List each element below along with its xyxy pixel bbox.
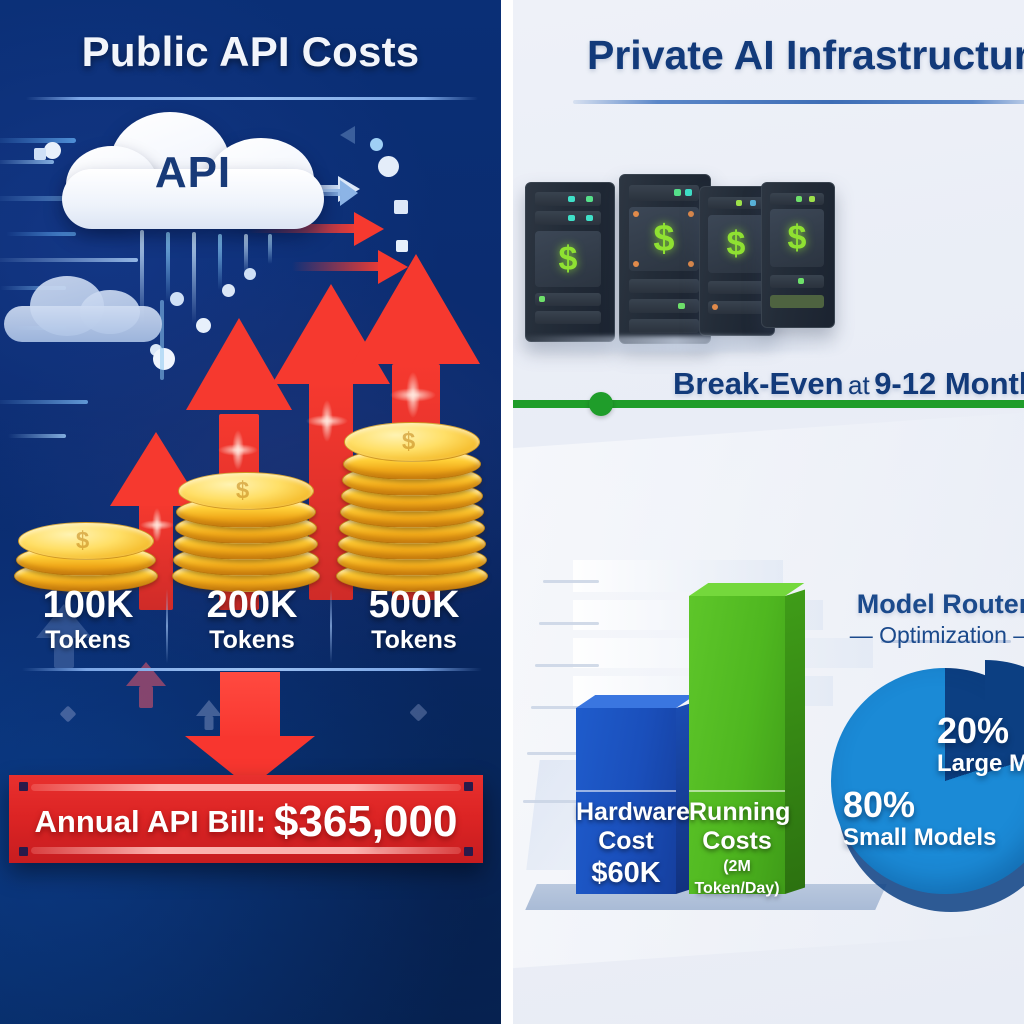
circuit-node-square [394,200,408,214]
coin-stack-500k: $ [336,418,486,588]
coin-stack-100k: $ [14,520,156,588]
page-title-left: Public API Costs [0,28,501,76]
break-even-suffix: 9-12 Months [874,366,1024,401]
circuit-node [153,348,175,370]
token-tier-unit: Tokens [172,625,332,655]
token-tier-amount: 500K [334,585,494,625]
chart-gridline [543,580,599,583]
private-ai-infrastructure-panel: $ $ [513,0,1024,1024]
bar-sublabel-running: (2M Token/Day) [689,856,785,900]
status-led [809,196,815,202]
circuit-node [222,284,235,297]
pie-label-large-models: 20% Large Models [937,712,1024,778]
circuit-node [170,292,184,306]
status-led [736,200,742,206]
pie-label-small-models: 80% Small Models [843,786,996,852]
decor-streak [0,258,138,262]
model-router-subtitle: — Optimization — [843,620,1024,650]
status-led [568,196,575,202]
tier-divider [166,589,168,663]
circuit-node [370,138,383,151]
circuit-drop-line [192,232,196,324]
circuit-drop-line [218,234,222,290]
circuit-node [378,156,399,177]
tier-bottom-divider [22,668,482,671]
decor-triangle [340,126,355,144]
break-even-prefix: Break-Even [673,366,844,401]
pie-name-large: Large Models [937,750,1024,778]
token-tier-200k: 200K Tokens [172,585,332,655]
decor-streak [0,400,88,404]
bar-label-hardware: Hardware Cost $60K [576,798,676,890]
coin-stack-200k: $ [172,468,318,588]
model-router-heading: Model Router — Optimization — [843,588,1024,650]
token-tier-unit: Tokens [8,625,168,655]
status-led [685,189,692,196]
break-even-marker-dot [589,392,613,416]
circuit-node-square [34,148,46,160]
panel-divider-gutter [501,0,513,1024]
status-led [750,200,756,206]
circuit-drop-line [244,234,248,274]
status-led [796,196,802,202]
bar-value-hardware: $60K [576,856,676,890]
token-tier-500k: 500K Tokens [334,585,494,655]
page-title-right: Private AI Infrastructure [587,32,1024,79]
title-divider [573,100,1024,104]
chart-gridline [539,622,599,625]
annual-bill-label: Annual API Bill: [35,804,266,839]
server-rack: $ [525,182,615,342]
break-even-middle: at [848,370,870,400]
server-racks-illustration: $ $ [523,150,823,340]
status-led [798,278,804,284]
bar-running-costs: Running Costs (2M Token/Day) [689,596,785,894]
banner-corner-nub [464,847,473,856]
pie-percent-small: 80% [843,786,996,824]
pie-percent-large: 20% [937,712,1024,750]
banner-highlight [31,784,461,791]
status-led [678,303,685,309]
tier-divider [330,589,332,663]
server-rack: $ [619,174,711,344]
decor-diamond [60,706,77,723]
server-floor-shadow [513,336,841,352]
decor-diamond [409,703,427,721]
chart-gridline [535,664,599,667]
model-router-title: Model Router [843,588,1024,620]
annual-bill-amount: $365,000 [274,797,458,846]
token-tier-row: 100K Tokens 200K Tokens 500K Tokens [0,585,501,673]
decor-cloud [4,276,164,346]
token-tier-100k: 100K Tokens [8,585,168,655]
annual-bill-banner: Annual API Bill:$365,000 [9,775,483,863]
banner-corner-nub [19,782,28,791]
break-even-label: Break-Even at 9-12 Months [673,366,1024,402]
infographic-canvas: API $ [0,0,1024,1024]
bar-label-line2: Costs [689,827,785,856]
circuit-drop-line [166,232,170,302]
decor-streak [0,160,54,164]
circuit-drop-line [268,234,272,264]
status-led [688,261,694,267]
token-tier-amount: 100K [8,585,168,625]
server-rack: $ [761,182,835,328]
token-tier-amount: 200K [172,585,332,625]
status-led [674,189,681,196]
status-led [568,215,575,221]
api-label: API [58,148,328,198]
bar-label-running: Running Costs (2M Token/Day) [689,798,785,900]
coin-dollar-glyph: $ [19,523,153,559]
status-led [712,304,718,310]
title-divider [26,97,478,100]
cost-arrow-down [185,672,315,787]
coin-dollar-glyph: $ [345,423,479,461]
status-led [586,215,593,221]
status-led [633,261,639,267]
bar-label-line2: Cost [576,827,676,856]
status-led [633,211,639,217]
bar-label-line1: Running [689,798,785,827]
banner-corner-nub [464,782,473,791]
bar-hardware-cost: Hardware Cost $60K [576,708,676,894]
api-cloud-illustration: API [58,112,328,237]
status-led [688,211,694,217]
public-api-costs-panel: API $ [0,0,501,1024]
annual-bill-text: Annual API Bill:$365,000 [9,797,483,847]
status-led [539,296,545,302]
pie-name-small: Small Models [843,824,996,852]
bar-label-line1: Hardware [576,798,676,827]
banner-highlight [31,847,461,854]
banner-corner-nub [19,847,28,856]
status-led [586,196,593,202]
coin-dollar-glyph: $ [179,473,313,509]
decor-streak [8,434,66,438]
token-tier-unit: Tokens [334,625,494,655]
